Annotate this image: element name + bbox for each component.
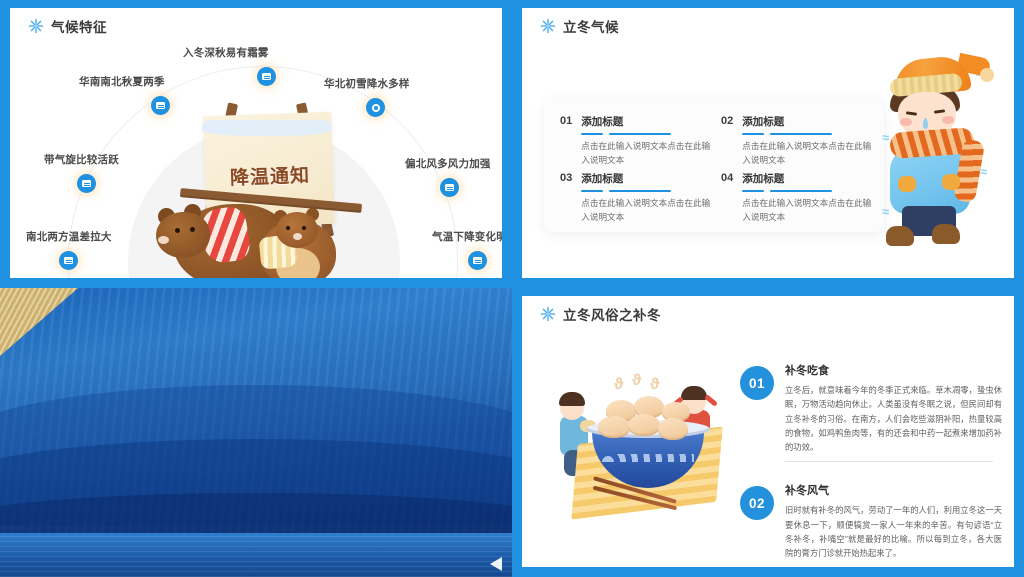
boot	[886, 226, 914, 246]
point-number: 02	[721, 114, 733, 167]
climate-diagram: 降温通知	[10, 8, 502, 278]
big-bear-eye	[190, 227, 195, 232]
small-bear-nose	[293, 233, 302, 240]
dumpling	[658, 418, 688, 440]
page-title: 立冬气候	[563, 16, 619, 36]
child-hair	[559, 392, 585, 406]
dumpling	[628, 414, 660, 436]
big-bear-head	[156, 212, 210, 258]
point-number: 03	[560, 171, 572, 224]
climate-node-0[interactable]: 入冬深秋易有霜雾	[257, 67, 276, 86]
card-icon	[151, 96, 170, 115]
mitten	[942, 174, 960, 190]
customs-list: 01 补冬吃食 立冬后，就意味着今年的冬季正式来临。草木凋零，蛰虫休眠，万物活动…	[740, 362, 1002, 567]
point-desc: 点击在此输入说明文本点击在此输入说明文本	[742, 197, 872, 224]
custom-item-01[interactable]: 01 补冬吃食 立冬后，就意味着今年的冬季正式来临。草木凋零，蛰虫休眠，万物活动…	[740, 362, 1002, 462]
point-rule	[581, 190, 711, 192]
climate-node-label: 入冬深秋易有霜雾	[183, 45, 269, 60]
climate-node-1[interactable]: 华南南北秋夏两季	[151, 96, 170, 115]
climate-node-label: 华南南北秋夏两季	[79, 74, 165, 89]
custom-badge: 02	[740, 486, 774, 520]
dumpling	[598, 416, 630, 438]
climate-node-label: 气温下降变化明显	[432, 229, 502, 244]
point-number: 04	[721, 171, 733, 224]
slide-4-header: 立冬风俗之补冬	[540, 304, 661, 324]
slide-1-canvas: 气候特征 降温通知	[10, 8, 502, 278]
card-icon	[77, 174, 96, 193]
point-title: 添加标题	[742, 171, 872, 186]
climate-node-label: 南北两方温差拉大	[26, 229, 112, 244]
sign-text: 降温通知	[212, 160, 329, 191]
slide-part-3-cover[interactable]: PART.3	[0, 288, 512, 577]
small-bear-head	[276, 212, 318, 248]
shiver-mark: ≈	[980, 164, 987, 179]
slide-2-canvas: 立冬气候 01 添加标题 点击在此输入说明文本点击在此输入说明文本 02 添加标…	[522, 8, 1014, 278]
slide-deck: 气候特征 降温通知	[0, 0, 1024, 577]
climate-node-label: 带气旋比较活跃	[44, 152, 119, 167]
point-rule	[581, 133, 711, 135]
custom-item-02[interactable]: 02 补冬风气 旧时就有补冬的风气，劳动了一年的人们，利用立冬这一天要休息一下，…	[740, 482, 1002, 567]
slide-winter-climate[interactable]: 立冬气候 01 添加标题 点击在此输入说明文本点击在此输入说明文本 02 添加标…	[512, 0, 1024, 288]
point-desc: 点击在此输入说明文本点击在此输入说明文本	[581, 140, 711, 167]
cheek	[942, 116, 954, 124]
custom-text: 立冬后，就意味着今年的冬季正式来临。草木凋零，蛰虫休眠，万物活动趋向休止。人类虽…	[785, 383, 1002, 454]
point-body: 添加标题 点击在此输入说明文本点击在此输入说明文本	[742, 114, 872, 167]
climate-node-5[interactable]: 南北两方温差拉大	[59, 251, 78, 270]
card-icon	[59, 251, 78, 270]
mitten	[898, 176, 916, 192]
point-number: 01	[560, 114, 572, 167]
slide-3-canvas: PART.3	[0, 288, 512, 577]
point-title: 添加标题	[581, 114, 711, 129]
bears-sign-illustration: 降温通知	[150, 100, 390, 278]
big-bear-eye	[175, 228, 180, 233]
shivering-boy-illustration: ≈ ≈ ≈ ≈	[880, 44, 996, 250]
child-hair	[681, 386, 707, 400]
card-icon	[440, 178, 459, 197]
climate-node-2[interactable]: 华北初雪降水多样	[366, 98, 385, 117]
steam-swirl: ϑ	[632, 372, 641, 390]
climate-node-6[interactable]: 气温下降变化明显	[468, 251, 487, 270]
steam-swirl: ϑ	[614, 376, 623, 394]
prev-arrow-icon[interactable]	[490, 557, 502, 571]
nose-drip	[923, 118, 928, 129]
custom-divider	[785, 461, 993, 462]
small-bear-eye	[302, 226, 306, 230]
point-title: 添加标题	[742, 114, 872, 129]
custom-text: 旧时就有补冬的风气，劳动了一年的人们，利用立冬这一天要休息一下，顺便犒赏一家人一…	[785, 503, 1002, 560]
four-point-grid: 01 添加标题 点击在此输入说明文本点击在此输入说明文本 02 添加标题 点击在…	[544, 100, 884, 232]
point-item-04[interactable]: 04 添加标题 点击在此输入说明文本点击在此输入说明文本	[721, 171, 872, 224]
point-rule	[742, 190, 872, 192]
point-body: 添加标题 点击在此输入说明文本点击在此输入说明文本	[581, 171, 711, 224]
point-body: 添加标题 点击在此输入说明文本点击在此输入说明文本	[742, 171, 872, 224]
custom-title: 补冬风气	[785, 482, 1002, 498]
circle-dot-icon	[366, 98, 385, 117]
slide-2-header: 立冬气候	[540, 16, 619, 36]
custom-body: 补冬风气 旧时就有补冬的风气，劳动了一年的人们，利用立冬这一天要休息一下，顺便犒…	[785, 482, 1002, 567]
card-icon	[468, 251, 487, 270]
point-item-01[interactable]: 01 添加标题 点击在此输入说明文本点击在此输入说明文本	[560, 114, 711, 167]
shiver-mark: ≈	[882, 204, 889, 219]
point-rule	[742, 133, 872, 135]
point-item-02[interactable]: 02 添加标题 点击在此输入说明文本点击在此输入说明文本	[721, 114, 872, 167]
steam-swirl: ϑ	[650, 376, 659, 394]
point-desc: 点击在此输入说明文本点击在此输入说明文本	[742, 140, 872, 167]
climate-node-4[interactable]: 偏北风多风力加强	[440, 178, 459, 197]
bowl-pattern	[602, 454, 694, 462]
point-title: 添加标题	[581, 171, 711, 186]
climate-node-label: 华北初雪降水多样	[324, 76, 410, 91]
shiver-mark: ≈	[882, 130, 889, 145]
slide-winter-customs[interactable]: 立冬风俗之补冬 ϑ ϑ ϑ	[512, 288, 1024, 577]
snowflake-icon	[540, 306, 556, 322]
card-icon	[257, 67, 276, 86]
custom-title: 补冬吃食	[785, 362, 1002, 378]
child-arm	[704, 394, 718, 407]
dumpling-bowl-illustration: ϑ ϑ ϑ	[558, 370, 738, 520]
sign-snowcap	[202, 120, 332, 136]
snowflake-icon	[540, 18, 556, 34]
custom-body: 补冬吃食 立冬后，就意味着今年的冬季正式来临。草木凋零，蛰虫休眠，万物活动趋向休…	[785, 362, 1002, 462]
slide-4-canvas: 立冬风俗之补冬 ϑ ϑ ϑ	[522, 296, 1014, 567]
slide-climate-features[interactable]: 气候特征 降温通知	[0, 0, 512, 288]
cheek	[900, 118, 912, 126]
point-item-03[interactable]: 03 添加标题 点击在此输入说明文本点击在此输入说明文本	[560, 171, 711, 224]
page-title: 立冬风俗之补冬	[563, 304, 661, 324]
climate-node-3[interactable]: 带气旋比较活跃	[77, 174, 96, 193]
hat-pom	[980, 68, 994, 82]
point-desc: 点击在此输入说明文本点击在此输入说明文本	[581, 197, 711, 224]
boot	[932, 224, 960, 244]
point-body: 添加标题 点击在此输入说明文本点击在此输入说明文本	[581, 114, 711, 167]
custom-badge: 01	[740, 366, 774, 400]
small-bear-eye	[286, 226, 290, 230]
climate-node-label: 偏北风多风力加强	[405, 156, 491, 171]
big-bear-nose	[158, 236, 169, 244]
water-reflection	[0, 533, 512, 577]
